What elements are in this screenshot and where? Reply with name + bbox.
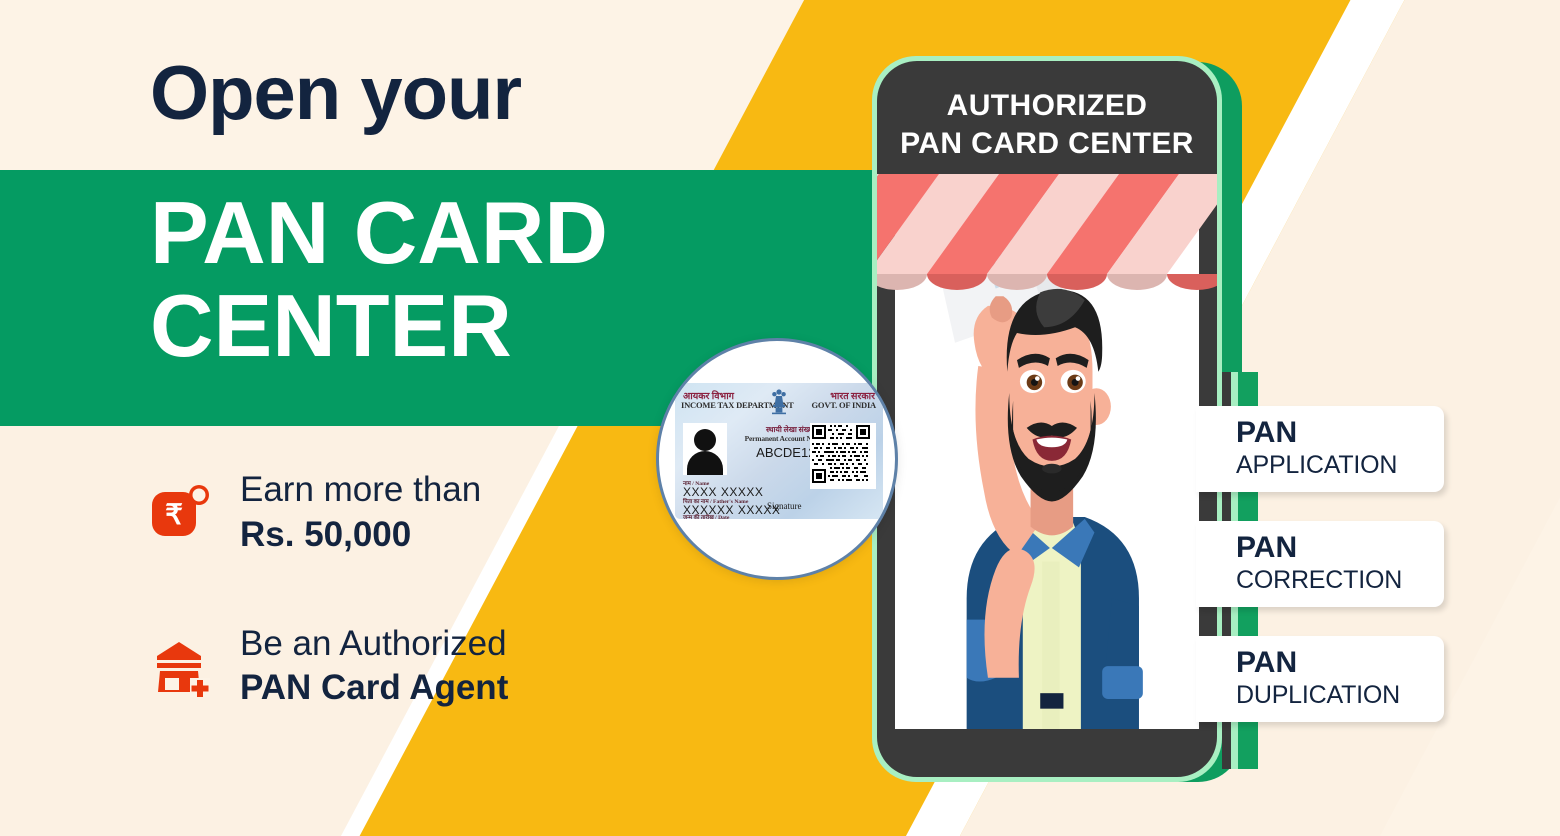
pan-card: आयकर विभाग INCOME TAX DEPARTMENT भारत सर… <box>675 383 883 519</box>
service-tab-connector <box>1222 717 1262 769</box>
phone-body: AUTHORIZED PAN CARD CENTER <box>877 61 1217 777</box>
pan-dob-label: जन्म की तारीख / Date of Birth <box>683 516 735 519</box>
pan-photo-placeholder <box>683 423 727 475</box>
phone-mockup: AUTHORIZED PAN CARD CENTER <box>872 56 1222 782</box>
awning-graphic <box>877 174 1217 302</box>
service-title: PAN <box>1236 648 1444 678</box>
list-item: ₹ Earn more than Rs. 50,000 <box>150 468 670 558</box>
service-title: PAN <box>1236 533 1444 563</box>
list-item: Be an Authorized PAN Card Agent <box>150 622 670 712</box>
rupee-badge-icon: ₹ <box>150 482 212 544</box>
pan-govt-english: GOVT. OF INDIA <box>812 400 877 410</box>
shop-plus-icon <box>150 635 212 697</box>
promo-banner: Open your PAN CARD CENTER ₹ Earn more th… <box>0 0 1560 836</box>
service-card-pan-correction[interactable]: PAN CORRECTION <box>1196 521 1444 607</box>
pan-card-header: आयकर विभाग INCOME TAX DEPARTMENT भारत सर… <box>675 387 883 421</box>
service-card-pan-application[interactable]: PAN APPLICATION <box>1196 406 1444 492</box>
phone-title-line-1: AUTHORIZED <box>877 87 1217 125</box>
benefit-line-2: PAN Card Agent <box>240 666 508 711</box>
service-title: PAN <box>1236 418 1444 448</box>
phone-header-title: AUTHORIZED PAN CARD CENTER <box>877 87 1217 162</box>
pan-qr-code <box>810 423 876 489</box>
benefits-list: ₹ Earn more than Rs. 50,000 <box>150 468 670 775</box>
phone-title-line-2: PAN CARD CENTER <box>877 125 1217 163</box>
eyebrow-text: Open your <box>150 56 521 132</box>
svg-text:₹: ₹ <box>165 499 183 530</box>
list-item-text: Earn more than Rs. 50,000 <box>240 468 481 558</box>
list-item-text: Be an Authorized PAN Card Agent <box>240 622 508 712</box>
benefit-line-1: Earn more than <box>240 468 481 513</box>
service-card-pan-duplication[interactable]: PAN DUPLICATION <box>1196 636 1444 722</box>
service-subtitle: APPLICATION <box>1236 451 1444 480</box>
service-subtitle: DUPLICATION <box>1236 681 1444 710</box>
pan-card-magnifier: आयकर विभाग INCOME TAX DEPARTMENT भारत सर… <box>656 338 898 580</box>
ashoka-emblem-icon <box>770 387 788 417</box>
headline-line-1: PAN CARD <box>150 186 870 279</box>
benefit-line-1: Be an Authorized <box>240 622 508 667</box>
pan-signature-label: Signature <box>767 501 802 511</box>
service-subtitle: CORRECTION <box>1236 566 1444 595</box>
benefit-line-2: Rs. 50,000 <box>240 513 481 558</box>
